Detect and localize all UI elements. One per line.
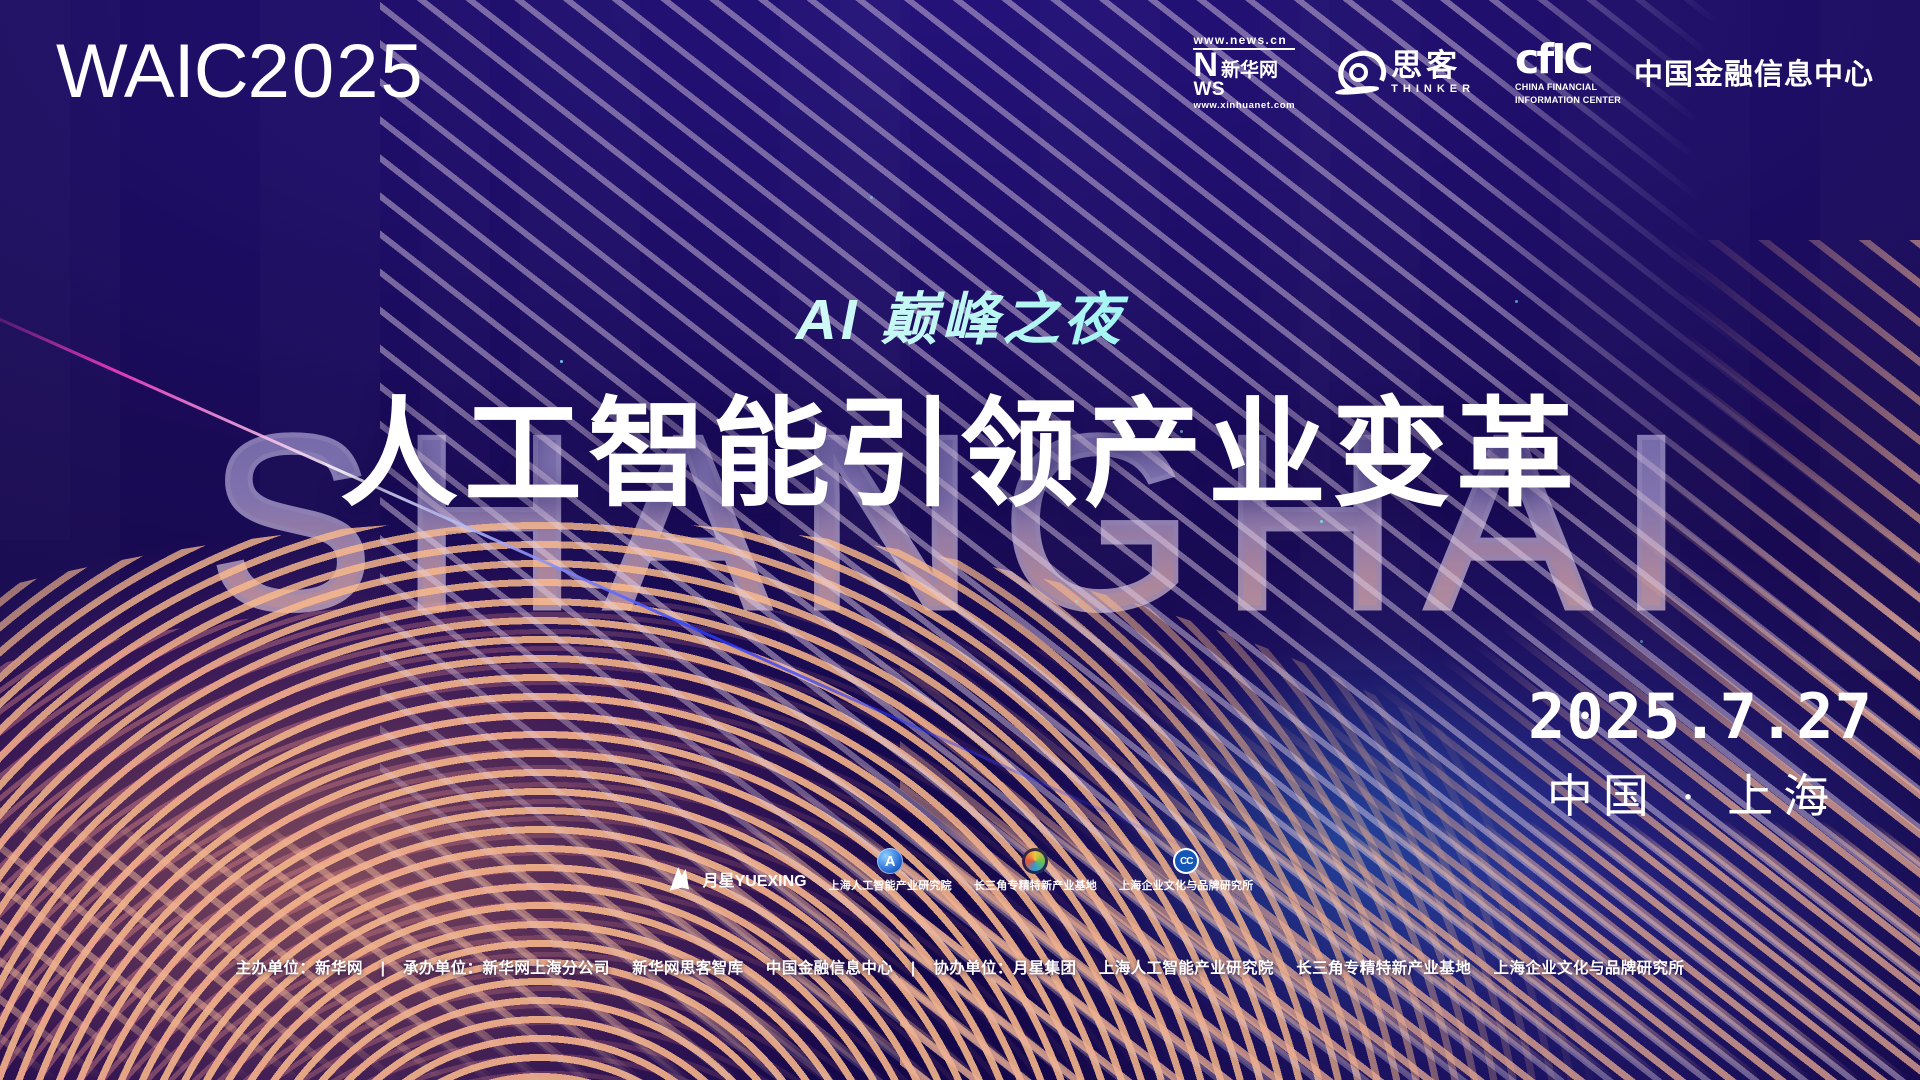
diagonal-sweep-lines — [380, 0, 1920, 1080]
footer-co-organizer-4: 上海企业文化与品牌研究所 — [1494, 960, 1685, 977]
event-subtitle: AI 巅峰之夜 — [0, 274, 1920, 356]
globe-icon — [877, 848, 903, 874]
partner-brand-research-institute-label: 上海企业文化与品牌研究所 — [1119, 877, 1253, 893]
footer-organizer: 承办单位：新华网上海分公司 — [403, 960, 610, 977]
xinhua-url-bottom: www.xinhuanet.com — [1193, 101, 1295, 111]
partner-yuexing-label: 月星YUEXING — [703, 867, 807, 891]
sponsor-logo-row: www.news.cn N 新华网 WS www.xinhuanet.com — [1193, 34, 1874, 110]
waic-logo-text: WAIC — [56, 29, 248, 114]
partner-yangtze-delta-base-label: 长三角专精特新产业基地 — [974, 877, 1097, 893]
partner-brand-research-institute: 上海企业文化与品牌研究所 — [1119, 848, 1253, 893]
xinhua-ws-letters: WS — [1193, 80, 1225, 99]
footer-co-organizer-2: 上海人工智能产业研究院 — [1099, 960, 1274, 977]
event-date-block: 2025.7.27 中国 · 上海 — [1528, 686, 1858, 820]
multicolor-icon — [1022, 848, 1048, 874]
thinker-en-name: THINKER — [1391, 84, 1475, 95]
cfic-cn-name: 中国金融信息中心 — [1634, 51, 1874, 93]
xinhua-n-letter: N — [1193, 52, 1217, 80]
sponsor-xinhua: www.news.cn N 新华网 WS www.xinhuanet.com — [1193, 34, 1295, 110]
partner-logo-row: 月星YUEXING 上海人工智能产业研究院 长三角专精特新产业基地 上海企业文化… — [0, 848, 1920, 893]
event-location: 中国 · 上海 — [1528, 774, 1858, 820]
event-date: 2025.7.27 — [1528, 686, 1858, 748]
footer-co-organizer: 协办单位：月星集团 — [933, 960, 1076, 977]
footer-organizer-2: 新华网思客智库 — [632, 960, 743, 977]
cfic-en-line1: CHINA FINANCIAL — [1515, 82, 1621, 93]
cfic-en-line2: INFORMATION CENTER — [1515, 95, 1621, 106]
footer-separator-1: | — [368, 960, 399, 978]
partner-shanghai-ai-institute: 上海人工智能产业研究院 — [829, 848, 952, 893]
partner-yangtze-delta-base: 长三角专精特新产业基地 — [974, 848, 1097, 893]
star-icon — [667, 865, 697, 893]
xinhua-url-top: www.news.cn — [1193, 34, 1287, 46]
footer-credits: 主办单位：新华网 | 承办单位：新华网上海分公司 新华网思客智库 中国金融信息中… — [0, 956, 1920, 978]
sponsor-cfic: cfIC CHINA FINANCIAL INFORMATION CENTER … — [1515, 39, 1874, 105]
footer-host: 主办单位：新华网 — [236, 960, 363, 977]
event-headline: 人工智能引领产业变革 — [0, 358, 1920, 529]
footer-organizer-3: 中国金融信息中心 — [766, 960, 893, 977]
waic-logo: WAIC2025 — [56, 34, 425, 110]
poster-header: WAIC2025 www.news.cn N 新华网 WS www.xinhua… — [0, 0, 1920, 140]
thinker-swirl-icon — [1335, 49, 1381, 95]
footer-separator-2: | — [898, 960, 929, 978]
sparkle-layer — [0, 0, 1920, 1080]
partner-yuexing: 月星YUEXING — [667, 865, 807, 893]
waic-logo-year: 2025 — [248, 29, 425, 114]
cc-circle-icon — [1173, 848, 1199, 874]
wave-arc-lines-secondary — [0, 600, 1920, 1080]
xinhua-cn-name: 新华网 — [1221, 61, 1278, 80]
footer-co-organizer-3: 长三角专精特新产业基地 — [1296, 960, 1471, 977]
cfic-mark: cfIC — [1515, 39, 1621, 80]
partner-shanghai-ai-institute-label: 上海人工智能产业研究院 — [829, 877, 952, 893]
sponsor-thinker: 思客 THINKER — [1335, 49, 1475, 95]
thinker-cn-name: 思客 — [1391, 50, 1475, 81]
poster-canvas: SHANGHAI WAIC2025 www.news.cn N 新 — [0, 0, 1920, 1080]
